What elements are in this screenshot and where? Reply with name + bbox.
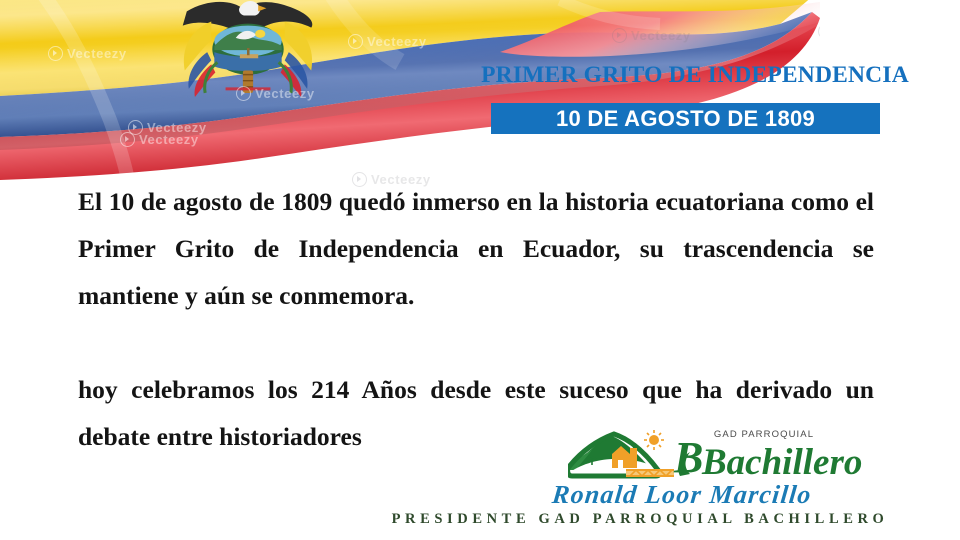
signature-name: Ronald Loor Marcillo [498, 480, 865, 510]
paragraph-spacer [78, 319, 874, 366]
ecuador-flag-svg [0, 0, 820, 190]
logo-sun-icon [649, 435, 659, 445]
logo-wordmark: Bachillero [701, 442, 862, 483]
logo-b-glyph: B [673, 433, 703, 482]
logo-church-tower [630, 448, 637, 468]
date-banner: 10 DE AGOSTO DE 1809 [491, 103, 880, 134]
logo-church-door [618, 460, 623, 468]
page-title: PRIMER GRITO DE INDEPENDENCIA [455, 62, 935, 89]
paragraph-one: El 10 de agosto de 1809 quedó inmerso en… [78, 178, 874, 319]
role-caption: PRESIDENTE GAD PARROQUIAL BACHILLERO [330, 511, 950, 528]
date-banner-label: 10 DE AGOSTO DE 1809 [556, 106, 815, 132]
body-copy: El 10 de agosto de 1809 quedó inmerso en… [78, 178, 874, 460]
ecuador-flag-image: Vecteezy Vecteezy Vecteezy Vecteezy Vect… [0, 0, 820, 190]
shield-ship-mast [247, 48, 250, 55]
slide-canvas: Vecteezy Vecteezy Vecteezy Vecteezy Vect… [0, 0, 960, 540]
logo-kicker: GAD PARROQUIAL [714, 429, 814, 440]
shield-sun [255, 30, 265, 38]
